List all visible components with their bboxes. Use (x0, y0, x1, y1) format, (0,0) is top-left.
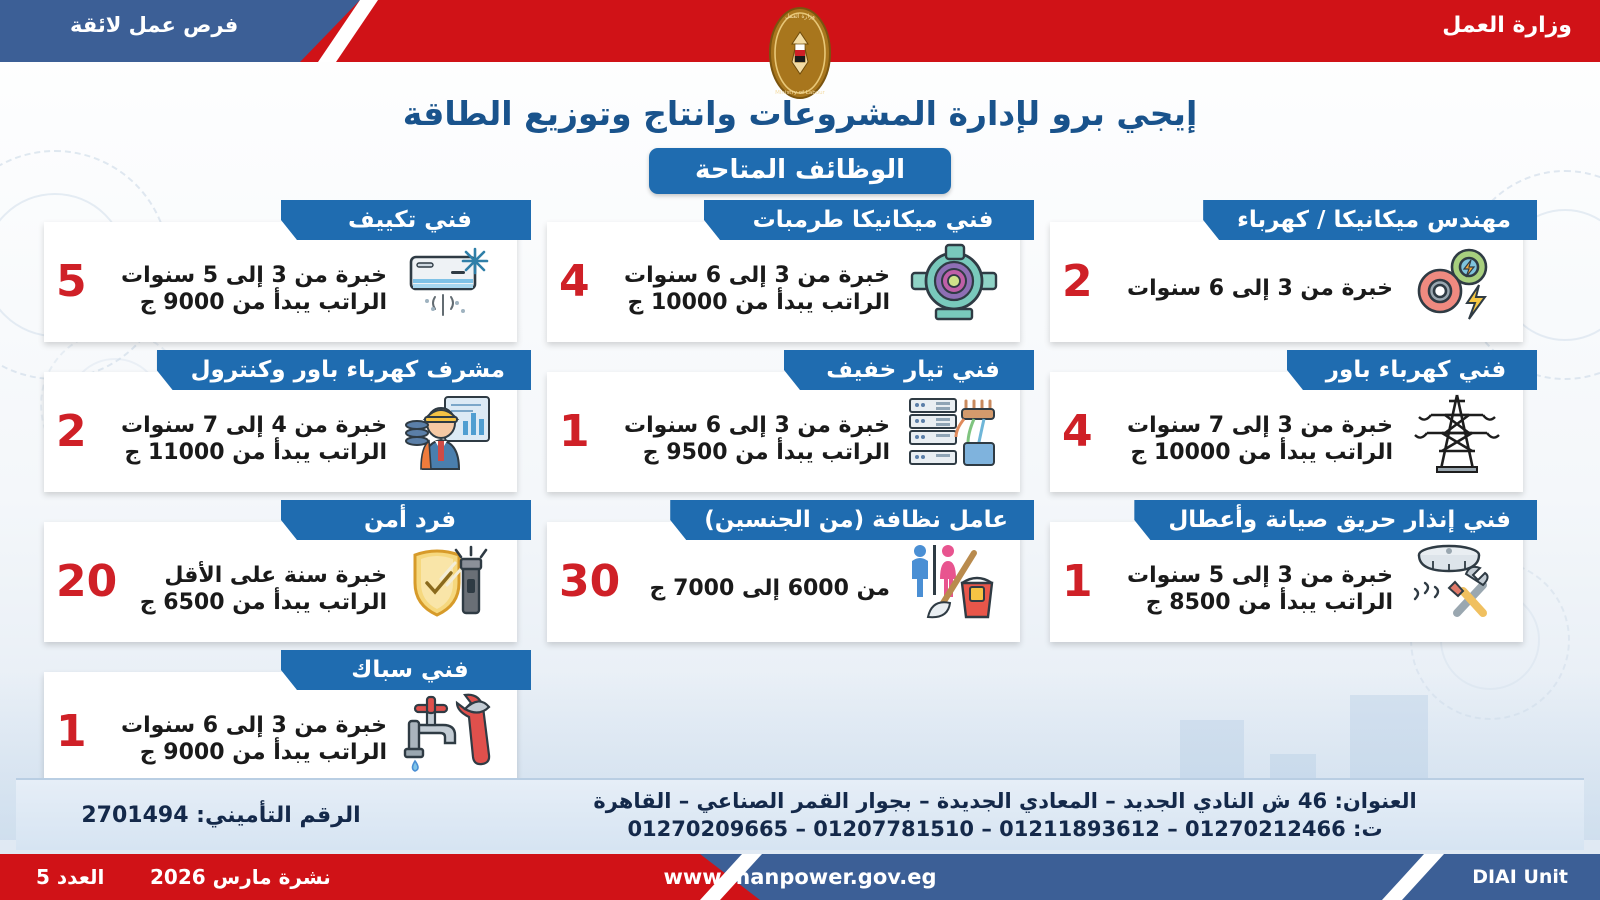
job-card-body: 20 خبرة سنة على الأقل الراتب يبدأ من 650… (44, 522, 517, 642)
egypt-eagle-emblem-icon: وزارة العمل Ministry of Labour (762, 4, 838, 102)
job-salary: الراتب يبدأ من 10000 ج (1099, 439, 1393, 467)
job-salary: الراتب يبدأ من 8500 ج (1099, 589, 1393, 617)
job-salary: الراتب يبدأ من 11000 ج (93, 439, 387, 467)
job-experience: خبرة من 3 إلى 6 سنوات (1099, 275, 1393, 303)
job-count: 5 (52, 260, 93, 304)
job-details: خبرة من 3 إلى 5 سنوات الراتب يبدأ من 900… (93, 248, 395, 317)
job-card[interactable]: مهندس ميكانيكا / كهرباء 2 (1050, 200, 1537, 342)
bulletin-date: نشرة مارس 2026 (150, 865, 331, 889)
job-count: 30 (555, 560, 626, 604)
job-card-body: 1 خبرة من 3 إلى 5 سنوات الراتب يبدأ من 8… (1050, 522, 1523, 642)
job-title-ribbon: عامل نظافة (من الجنسين) (670, 500, 1034, 540)
job-experience: خبرة من 4 إلى 7 سنوات (93, 412, 387, 440)
job-experience: خبرة من 3 إلى 6 سنوات (93, 712, 387, 740)
job-card[interactable]: فني ميكانيكا طرمبات 4 خبرة من 3 إلى 6 سن… (547, 200, 1034, 342)
job-experience: خبرة سنة على الأقل (123, 562, 387, 590)
job-title-ribbon: فني تكييف (281, 200, 531, 240)
smoke-detector-tools-icon (1401, 532, 1513, 632)
job-card-body: 1 خبرة من 3 إلى 6 سنوات الراتب يبدأ من 9… (44, 672, 517, 792)
job-card[interactable]: فني كهرباء باور (1050, 350, 1537, 492)
job-salary: الراتب يبدأ من 9500 ج (596, 439, 890, 467)
job-details: خبرة من 3 إلى 6 سنوات الراتب يبدأ من 950… (596, 398, 898, 467)
job-details: خبرة من 3 إلى 6 سنوات الراتب يبدأ من 100… (596, 248, 898, 317)
air-conditioner-icon (395, 232, 507, 332)
job-card-grid: فني تكييف (44, 200, 1556, 792)
gears-bolt-icon (1401, 232, 1513, 332)
contact-block: العنوان: 46 ش النادي الجديد – المعادي ال… (426, 787, 1584, 844)
job-count: 20 (52, 560, 123, 604)
insurance-number: الرقم التأميني: 2701494 (16, 803, 426, 828)
water-pump-icon (898, 232, 1010, 332)
job-count: 1 (555, 410, 596, 454)
power-pylon-icon (1401, 382, 1513, 482)
job-experience: خبرة من 3 إلى 7 سنوات (1099, 412, 1393, 440)
job-experience: خبرة من 3 إلى 5 سنوات (93, 262, 387, 290)
issue-number: العدد 5 (36, 865, 104, 889)
job-title-ribbon: فني تيار خفيف (784, 350, 1034, 390)
job-salary: الراتب يبدأ من 6500 ج (123, 589, 387, 617)
job-salary: الراتب يبدأ من 10000 ج (596, 289, 890, 317)
job-card[interactable]: فني تكييف (44, 200, 531, 342)
header-tagline: فرص عمل لائقة (70, 13, 238, 37)
unit-label: DIAI Unit (1472, 866, 1568, 888)
bottom-bar: العدد 5 نشرة مارس 2026 www.manpower.gov.… (0, 854, 1600, 900)
job-details: خبرة من 3 إلى 5 سنوات الراتب يبدأ من 850… (1099, 548, 1401, 617)
network-server-icon (898, 382, 1010, 482)
address-line: العنوان: 46 ش النادي الجديد – المعادي ال… (426, 787, 1584, 815)
mop-bucket-icon (898, 532, 1010, 632)
job-title-ribbon: مشرف كهرباء باور وكنترول (157, 350, 531, 390)
job-title-ribbon: فني سباك (281, 650, 531, 690)
job-title-ribbon: فني إنذار حريق صيانة وأعطال (1134, 500, 1537, 540)
job-experience: خبرة من 3 إلى 6 سنوات (596, 262, 890, 290)
job-count: 1 (52, 710, 93, 754)
job-card[interactable]: مشرف كهرباء باور وكنترول (44, 350, 531, 492)
job-count: 2 (1058, 260, 1099, 304)
job-card-body: 1 خبرة من 3 إلى 6 سنوات الراتب يبدأ من 9… (547, 372, 1020, 492)
supervisor-engineer-icon (395, 382, 507, 482)
job-experience: من 6000 إلى 7000 ج (626, 575, 890, 603)
job-details: خبرة من 3 إلى 6 سنوات الراتب يبدأ من 900… (93, 698, 395, 767)
job-card-body: 4 خبرة من 3 إلى 6 سنوات الراتب يبدأ من 1… (547, 222, 1020, 342)
job-details: خبرة من 3 إلى 6 سنوات (1099, 261, 1401, 303)
job-count: 4 (1058, 410, 1099, 454)
faucet-wrench-icon (395, 682, 507, 782)
job-card-body: 2 خبرة من 3 إلى 6 سنوات (1050, 222, 1523, 342)
job-experience: خبرة من 3 إلى 5 سنوات (1099, 562, 1393, 590)
job-card-body: 30 من 6000 إلى 7000 ج (547, 522, 1020, 642)
job-card[interactable]: فرد أمن 20 خبرة سنة على الأقل (44, 500, 531, 642)
job-card[interactable]: فني سباك 1 خبرة م (44, 650, 531, 792)
job-salary: الراتب يبدأ من 9000 ج (93, 739, 387, 767)
job-count: 4 (555, 260, 596, 304)
job-card[interactable]: عامل نظافة (من الجنسين) 30 من 6000 إلى 7… (547, 500, 1034, 642)
phones-line: ت: 01270212466 – 01211893612 – 012077815… (426, 815, 1584, 843)
available-jobs-badge: الوظائف المتاحة (649, 148, 951, 194)
shield-flashlight-icon (395, 532, 507, 632)
job-count: 1 (1058, 560, 1099, 604)
bottom-red-band (0, 854, 760, 900)
job-title-ribbon: فني ميكانيكا طرمبات (704, 200, 1034, 240)
job-title-ribbon: فرد أمن (281, 500, 531, 540)
job-details: خبرة من 4 إلى 7 سنوات الراتب يبدأ من 110… (93, 398, 395, 467)
job-salary: الراتب يبدأ من 9000 ج (93, 289, 387, 317)
job-details: خبرة من 3 إلى 7 سنوات الراتب يبدأ من 100… (1099, 398, 1401, 467)
header-red-band (300, 0, 1600, 62)
job-card[interactable]: فني إنذار حريق صيانة وأعطال 1 (1050, 500, 1537, 642)
job-details: خبرة سنة على الأقل الراتب يبدأ من 6500 ج (123, 548, 395, 617)
job-experience: خبرة من 3 إلى 6 سنوات (596, 412, 890, 440)
job-card-body: 2 خبرة من 4 إلى 7 سنوات الراتب يبدأ من 1… (44, 372, 517, 492)
website-url[interactable]: www.manpower.gov.eg (664, 865, 937, 889)
job-card-body: 5 خبرة من 3 إلى 5 سنوات الراتب يبدأ من 9… (44, 222, 517, 342)
job-card[interactable]: فني تيار خفيف (547, 350, 1034, 492)
job-details: من 6000 إلى 7000 ج (626, 561, 898, 603)
job-title-ribbon: فني كهرباء باور (1287, 350, 1537, 390)
job-card-body: 4 خبرة من 3 إلى 7 سنوات الراتب يبدأ من 1… (1050, 372, 1523, 492)
ministry-name: وزارة العمل (1442, 13, 1572, 38)
job-count: 2 (52, 410, 93, 454)
job-title-ribbon: مهندس ميكانيكا / كهرباء (1203, 200, 1537, 240)
footer-contact-bar: الرقم التأميني: 2701494 العنوان: 46 ش ال… (16, 778, 1584, 850)
svg-text:Ministry of Labour: Ministry of Labour (775, 90, 825, 96)
svg-text:وزارة العمل: وزارة العمل (785, 13, 815, 20)
